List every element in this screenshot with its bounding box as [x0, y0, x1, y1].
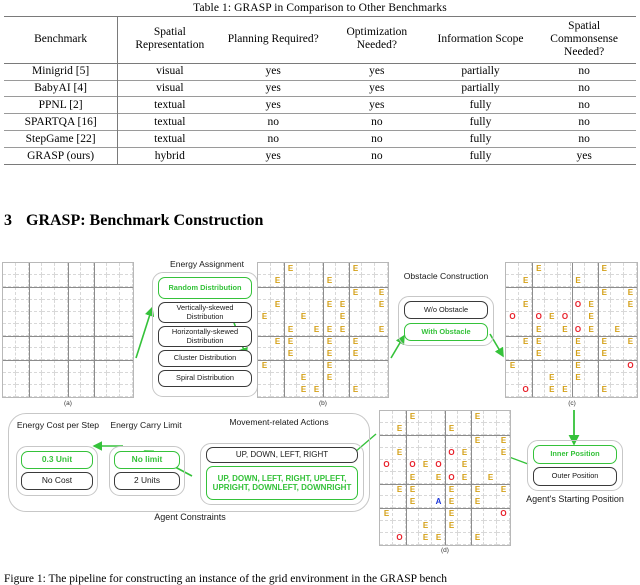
grid-token-e: E — [445, 486, 458, 494]
grid-cell — [42, 300, 55, 312]
grid-cell — [497, 472, 510, 484]
grid-cell — [107, 287, 120, 299]
grid-cell — [624, 312, 637, 324]
table-header-row: Benchmark Spatial Representation Plannin… — [4, 17, 636, 64]
grid-token-e: E — [497, 449, 510, 457]
grid-cell — [545, 336, 558, 348]
grid-token-e: E — [432, 534, 445, 542]
grid-cell — [107, 336, 120, 348]
grid-cell — [458, 508, 471, 520]
th-planning-required: Planning Required? — [221, 17, 325, 64]
grid-token-o: O — [572, 301, 585, 309]
grid-cell — [419, 448, 432, 460]
grid-cell — [545, 300, 558, 312]
grid-cell — [94, 263, 107, 275]
grid-token-e: E — [297, 386, 310, 394]
grid-token-o: O — [380, 461, 393, 469]
grid-cell — [310, 336, 323, 348]
option-wo-obstacle[interactable]: W/o Obstacle — [404, 301, 488, 319]
grid-token-e: E — [284, 338, 297, 346]
grid-cell — [94, 360, 107, 372]
grid-cell — [506, 287, 519, 299]
grid-token-e: E — [471, 486, 484, 494]
grid-token-e: E — [297, 313, 310, 321]
grid-cell — [598, 275, 611, 287]
grid-cell — [297, 275, 310, 287]
grid-cell — [497, 460, 510, 472]
grid-cell — [336, 336, 349, 348]
grid-cell — [484, 521, 497, 533]
grid-major-line-horizontal — [3, 336, 133, 337]
grid-cell — [68, 312, 81, 324]
grid-cell — [572, 263, 585, 275]
grid-cell — [624, 324, 637, 336]
grid-cell — [375, 360, 388, 372]
grid-cell — [81, 275, 94, 287]
grid-cell — [55, 360, 68, 372]
grid-cell — [323, 312, 336, 324]
grid-major-line-vertical — [68, 263, 69, 397]
grid-token-e: E — [336, 326, 349, 334]
grid-token-e: E — [598, 265, 611, 273]
grid-cell — [406, 508, 419, 520]
grid-cell — [258, 324, 271, 336]
grid-cell — [572, 385, 585, 397]
grid-cell — [419, 508, 432, 520]
grid-cell — [406, 521, 419, 533]
grid-cell — [484, 423, 497, 435]
grid-token-e: E — [471, 413, 484, 421]
option-cluster-distribution[interactable]: Cluster Distribution — [158, 350, 252, 367]
grid-token-e: E — [323, 301, 336, 309]
grid-cell — [585, 373, 598, 385]
grid-cell — [55, 373, 68, 385]
grid-cell — [585, 385, 598, 397]
grid-cell — [310, 263, 323, 275]
grid-cell — [81, 287, 94, 299]
grid-token-o: O — [497, 510, 510, 518]
grid-cell — [81, 300, 94, 312]
grid-cell — [310, 373, 323, 385]
grid-cell — [471, 423, 484, 435]
grid-cell — [558, 300, 571, 312]
grid-cell — [258, 385, 271, 397]
cell-benchmark: Minigrid [5] — [4, 63, 118, 80]
grid-cell — [258, 300, 271, 312]
grid-token-e: E — [406, 474, 419, 482]
grid-cell — [310, 312, 323, 324]
grid-token-a: A — [432, 498, 445, 506]
grid-cell — [558, 360, 571, 372]
grid-cell — [532, 300, 545, 312]
grid-cell — [16, 385, 29, 397]
grid-cell — [484, 411, 497, 423]
cell-spatial: textual — [118, 97, 222, 114]
grid-cell — [406, 448, 419, 460]
grid-cell — [55, 385, 68, 397]
option-with-obstacle[interactable]: With Obstacle — [404, 323, 488, 341]
cell-commonsense: no — [532, 131, 636, 148]
grid-token-e: E — [506, 362, 519, 370]
grid-token-e: E — [572, 362, 585, 370]
grid-cell — [558, 275, 571, 287]
grid-cell — [393, 508, 406, 520]
grid-token-e: E — [284, 265, 297, 273]
grid-cell — [16, 275, 29, 287]
grid-cell — [271, 373, 284, 385]
grid-cell — [29, 360, 42, 372]
grid-cell — [362, 360, 375, 372]
grid-cell — [432, 423, 445, 435]
option-inner-position[interactable]: Inner Position — [533, 445, 617, 464]
grid-cell — [81, 348, 94, 360]
agent-constraints-caption: Agent Constraints — [130, 512, 250, 522]
option-horizontally-skewed-distribution[interactable]: Horizontally-skewed Distribution — [158, 326, 252, 347]
grid-major-line-vertical — [94, 263, 95, 397]
grid-cell — [471, 448, 484, 460]
grid-cell — [29, 263, 42, 275]
option-actions-8-way[interactable]: UP, DOWN, LEFT, RIGHT, UPLEFT, UPRIGHT, … — [206, 466, 358, 500]
grid-cell — [558, 263, 571, 275]
grid-cell — [16, 300, 29, 312]
grid-token-o: O — [519, 386, 532, 394]
grid-cell — [271, 263, 284, 275]
grid-cell — [558, 287, 571, 299]
grid-token-e: E — [598, 289, 611, 297]
grid-cell — [506, 275, 519, 287]
grid-token-e: E — [558, 386, 571, 394]
grid-cell — [611, 385, 624, 397]
cell-benchmark: PPNL [2] — [4, 97, 118, 114]
grid-cell — [271, 385, 284, 397]
agent-start-position-caption: Agent's Starting Position — [523, 494, 627, 504]
grid-cell — [94, 324, 107, 336]
grid-cell — [68, 385, 81, 397]
grid-cell — [362, 312, 375, 324]
grid-token-e: E — [349, 386, 362, 394]
grid-cell — [471, 460, 484, 472]
option-carry-no-limit[interactable]: No limit — [114, 451, 180, 469]
option-carry-2-units[interactable]: 2 Units — [114, 472, 180, 490]
grid-c: EEEEEEEOEEOOEOEEEOEEEEEEEEEEEEOEEOEEE — [505, 262, 638, 398]
grid-token-e: E — [611, 326, 624, 334]
grid-cell — [458, 484, 471, 496]
grid-token-e: E — [445, 425, 458, 433]
grid-cell — [362, 300, 375, 312]
grid-cell — [94, 373, 107, 385]
grid-cell — [432, 435, 445, 447]
grid-cell — [585, 287, 598, 299]
option-actions-4-way[interactable]: UP, DOWN, LEFT, RIGHT — [206, 447, 358, 463]
grid-cell — [585, 263, 598, 275]
grid-token-e: E — [545, 386, 558, 394]
section-title: GRASP: Benchmark Construction — [26, 212, 263, 229]
grid-major-line-vertical — [471, 411, 472, 545]
panel-label-a: (a) — [53, 400, 83, 407]
grid-cell — [393, 460, 406, 472]
th-spatial-commonsense: Spatial Commonsense Needed? — [532, 17, 636, 64]
grid-token-e: E — [519, 301, 532, 309]
grid-token-e: E — [585, 326, 598, 334]
grid-token-e: E — [445, 522, 458, 530]
cell-planning: no — [221, 114, 325, 131]
grid-cell — [611, 287, 624, 299]
grid-cell — [611, 360, 624, 372]
grid-token-e: E — [532, 338, 545, 346]
cell-commonsense: yes — [532, 148, 636, 165]
grid-token-e: E — [497, 437, 510, 445]
grid-cell — [545, 263, 558, 275]
grid-cell — [55, 263, 68, 275]
table-row: SPARTQA [16]textualnonofullyno — [4, 114, 636, 131]
grid-token-e: E — [393, 449, 406, 457]
cell-benchmark: SPARTQA [16] — [4, 114, 118, 131]
panel-label-b: (b) — [308, 400, 338, 407]
grid-cell — [68, 275, 81, 287]
grid-cell — [419, 496, 432, 508]
grid-cell — [323, 263, 336, 275]
grid-panel-b: EEEEEEEEEEEEEEEEEEEEEEEEEEEEEEEE (b) — [257, 262, 389, 398]
grid-token-e: E — [598, 338, 611, 346]
grid-token-e: E — [624, 289, 637, 297]
grid-cell — [380, 496, 393, 508]
grid-token-e: E — [323, 350, 336, 358]
grid-cell — [362, 263, 375, 275]
figure-pipeline-diagram: (a) Energy Assignment Random Distributio… — [0, 258, 640, 568]
grid-cell — [572, 287, 585, 299]
grid-cell — [107, 360, 120, 372]
grid-cell — [297, 360, 310, 372]
th-information-scope: Information Scope — [429, 17, 533, 64]
grid-cell — [611, 312, 624, 324]
arrow-a-to-energy — [136, 308, 152, 358]
grid-cell — [458, 423, 471, 435]
grid-cell — [611, 300, 624, 312]
grid-cell — [3, 348, 16, 360]
grid-cell — [29, 300, 42, 312]
grid-cell — [484, 496, 497, 508]
grid-cell — [81, 336, 94, 348]
grid-cell — [362, 287, 375, 299]
grid-cell — [506, 385, 519, 397]
grid-cell — [393, 435, 406, 447]
cell-spatial: textual — [118, 114, 222, 131]
grid-token-o: O — [445, 449, 458, 457]
grid-cell — [94, 275, 107, 287]
option-random-distribution[interactable]: Random Distribution — [158, 277, 252, 299]
grid-cell — [68, 348, 81, 360]
grid-cell — [284, 373, 297, 385]
grid-cell — [258, 263, 271, 275]
grid-cell — [120, 373, 133, 385]
grid-cell — [558, 373, 571, 385]
grid-cell — [297, 287, 310, 299]
grid-major-line-horizontal — [3, 287, 133, 288]
grid-cell — [458, 533, 471, 545]
grid-token-e: E — [471, 498, 484, 506]
option-spiral-distribution[interactable]: Spiral Distribution — [158, 370, 252, 387]
grid-token-e: E — [349, 265, 362, 273]
grid-token-e: E — [585, 313, 598, 321]
cell-scope: fully — [429, 148, 533, 165]
cell-planning: yes — [221, 97, 325, 114]
grid-cell — [284, 385, 297, 397]
grid-cell — [458, 496, 471, 508]
energy-carry-limit-title: Energy Carry Limit — [107, 421, 185, 431]
grid-token-e: E — [458, 474, 471, 482]
grid-cell — [393, 496, 406, 508]
grid-cell — [68, 360, 81, 372]
grid-cell — [506, 300, 519, 312]
cell-benchmark: StepGame [22] — [4, 131, 118, 148]
grid-cell — [445, 460, 458, 472]
grid-cell — [585, 275, 598, 287]
grid-cell — [297, 300, 310, 312]
grid-cell — [3, 373, 16, 385]
grid-cell — [375, 336, 388, 348]
grid-cell — [585, 348, 598, 360]
option-vertically-skewed-distribution[interactable]: Vertically-skewed Distribution — [158, 302, 252, 323]
option-energy-cost-0-3-unit[interactable]: 0.3 Unit — [21, 451, 93, 469]
grid-cell — [81, 373, 94, 385]
grid-token-e: E — [598, 350, 611, 358]
energy-cost-title: Energy Cost per Step — [16, 421, 100, 431]
grid-cell — [297, 348, 310, 360]
grid-cell — [120, 348, 133, 360]
th-benchmark: Benchmark — [4, 17, 118, 64]
grid-cell — [68, 324, 81, 336]
grid-cell — [42, 324, 55, 336]
grid-cell — [506, 324, 519, 336]
grid-cell — [458, 521, 471, 533]
grid-token-o: O — [572, 326, 585, 334]
grid-token-e: E — [271, 338, 284, 346]
grid-cell — [380, 411, 393, 423]
grid-cell — [545, 360, 558, 372]
grid-cell — [94, 336, 107, 348]
grid-cell — [532, 275, 545, 287]
table-row: Minigrid [5]visualyesyespartiallyno — [4, 63, 636, 80]
grid-cell — [284, 275, 297, 287]
grid-cell — [336, 287, 349, 299]
section-heading: 3GRASP: Benchmark Construction — [4, 212, 263, 230]
grid-cell — [258, 336, 271, 348]
table-row: GRASP (ours)hybridyesnofullyyes — [4, 148, 636, 165]
cell-planning: yes — [221, 63, 325, 80]
cell-optimization: yes — [325, 80, 429, 97]
grid-token-e: E — [471, 534, 484, 542]
grid-cell — [42, 263, 55, 275]
grid-cell — [3, 336, 16, 348]
grid-token-o: O — [393, 534, 406, 542]
grid-cell — [310, 287, 323, 299]
grid-cell — [506, 336, 519, 348]
grid-cell — [29, 336, 42, 348]
option-outer-position[interactable]: Outer Position — [533, 467, 617, 486]
panel-label-c: (c) — [557, 400, 587, 407]
grid-token-e: E — [585, 301, 598, 309]
cell-scope: fully — [429, 114, 533, 131]
grid-cell — [506, 348, 519, 360]
grid-major-line-horizontal — [3, 360, 133, 361]
grid-token-e: E — [624, 301, 637, 309]
cell-planning: no — [221, 131, 325, 148]
grid-token-e: E — [545, 313, 558, 321]
grid-cell — [458, 435, 471, 447]
grid-cell — [55, 312, 68, 324]
grid-cell — [519, 373, 532, 385]
grid-cell — [598, 324, 611, 336]
cell-commonsense: no — [532, 80, 636, 97]
grid-cell — [258, 287, 271, 299]
grid-cell — [107, 385, 120, 397]
grid-token-e: E — [545, 374, 558, 382]
grid-cell — [393, 411, 406, 423]
grid-cell — [393, 521, 406, 533]
grid-cell — [598, 373, 611, 385]
movement-actions-title: Movement-related Actions — [196, 418, 362, 428]
grid-cell — [107, 300, 120, 312]
grid-cell — [284, 360, 297, 372]
grid-cell — [545, 287, 558, 299]
grid-cell — [323, 385, 336, 397]
grid-cell — [120, 385, 133, 397]
grid-cell — [484, 448, 497, 460]
grid-token-e: E — [284, 350, 297, 358]
grid-cell — [271, 360, 284, 372]
grid-cell — [419, 472, 432, 484]
cell-optimization: yes — [325, 63, 429, 80]
grid-cell — [375, 275, 388, 287]
grid-cell — [310, 275, 323, 287]
grid-cell — [42, 287, 55, 299]
grid-cell — [349, 275, 362, 287]
grid-d: EEEEEEEOEEOOEOEEEOEEEEEEEEAEEEEOEEOEEE — [379, 410, 511, 546]
grid-cell — [42, 348, 55, 360]
grid-cell — [336, 348, 349, 360]
grid-token-o: O — [624, 362, 637, 370]
grid-cell — [120, 263, 133, 275]
grid-cell — [29, 312, 42, 324]
grid-cell — [284, 287, 297, 299]
grid-cell — [545, 324, 558, 336]
grid-cell — [107, 312, 120, 324]
grid-token-e: E — [532, 265, 545, 273]
grid-cell — [68, 300, 81, 312]
cell-planning: yes — [221, 80, 325, 97]
grid-token-e: E — [519, 277, 532, 285]
option-energy-cost-no-cost[interactable]: No Cost — [21, 472, 93, 490]
grid-cell — [598, 360, 611, 372]
grid-token-e: E — [419, 522, 432, 530]
grid-cell — [484, 508, 497, 520]
grid-token-e: E — [258, 313, 271, 321]
grid-cell — [393, 472, 406, 484]
grid-cell — [120, 360, 133, 372]
grid-token-e: E — [419, 461, 432, 469]
grid-token-e: E — [323, 277, 336, 285]
grid-cell — [3, 300, 16, 312]
grid-token-e: E — [406, 486, 419, 494]
grid-cell — [624, 263, 637, 275]
grid-token-e: E — [271, 301, 284, 309]
grid-cell — [419, 484, 432, 496]
cell-spatial: visual — [118, 63, 222, 80]
grid-token-e: E — [598, 386, 611, 394]
cell-commonsense: no — [532, 97, 636, 114]
grid-cell — [94, 385, 107, 397]
table-row: PPNL [2]textualyesyesfullyno — [4, 97, 636, 114]
